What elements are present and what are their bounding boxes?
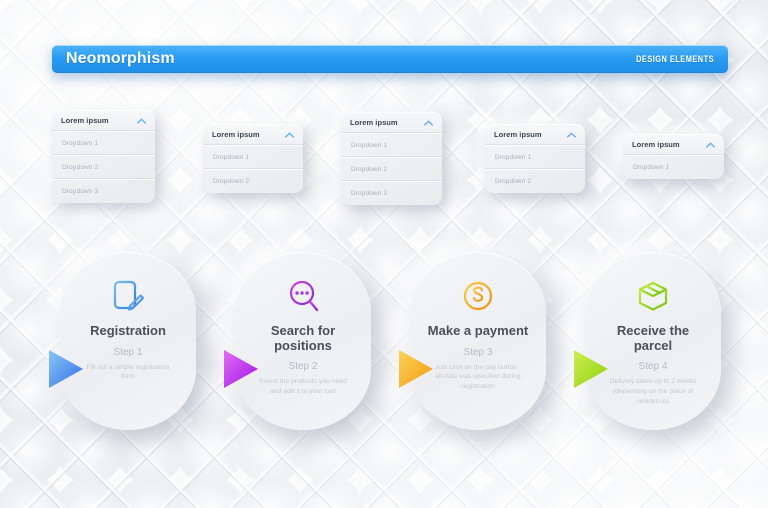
dropdown-item[interactable]: Dropdown 1 bbox=[623, 155, 724, 179]
dropdown-label-1: Lorem ipsum bbox=[61, 116, 109, 125]
dropdown-header-3[interactable]: Lorem ipsum bbox=[341, 112, 442, 133]
page-title: Neomorphism bbox=[66, 50, 175, 68]
document-edit-icon bbox=[111, 276, 145, 318]
play-triangle-icon[interactable] bbox=[46, 348, 86, 390]
dropdown-label-2: Lorem ipsum bbox=[212, 130, 260, 139]
dropdown-card-5[interactable]: Lorem ipsum Dropdown 1 bbox=[623, 134, 724, 179]
dropdown-card-4[interactable]: Lorem ipsum Dropdown 1 Dropdown 2 bbox=[485, 124, 585, 193]
step-card-registration[interactable]: Registration Step 1 Fill out a simple re… bbox=[60, 252, 196, 430]
step-description: Fill out a simple registration form bbox=[81, 363, 175, 383]
neomorphism-showcase: Neomorphism DESIGN ELEMENTS Lorem ipsum … bbox=[0, 0, 768, 508]
dropdown-item[interactable]: Dropdown 3 bbox=[52, 179, 155, 203]
dropdown-item[interactable]: Dropdown 1 bbox=[485, 145, 585, 169]
dropdown-label-4: Lorem ipsum bbox=[494, 130, 542, 139]
chevron-up-icon[interactable] bbox=[137, 118, 146, 124]
step-description: Delivery takes up to 2 weeks (depending … bbox=[606, 377, 700, 407]
dropdown-card-1[interactable]: Lorem ipsum Dropdown 1 Dropdown 2 Dropdo… bbox=[52, 110, 155, 203]
parcel-box-icon bbox=[635, 276, 671, 318]
step-title: Search for positions bbox=[249, 324, 357, 353]
chevron-up-icon[interactable] bbox=[424, 120, 433, 126]
dropdown-card-3[interactable]: Lorem ipsum Dropdown 1 Dropdown 2 Dropdo… bbox=[341, 112, 442, 205]
dropdown-item[interactable]: Dropdown 3 bbox=[341, 181, 442, 205]
step-card-payment[interactable]: Make a payment Step 3 Just click on the … bbox=[410, 252, 546, 430]
step-title: Make a payment bbox=[428, 324, 528, 339]
play-triangle-icon[interactable] bbox=[396, 348, 436, 390]
step-title: Registration bbox=[90, 324, 166, 339]
search-bubble-icon bbox=[286, 276, 320, 318]
dropdown-item[interactable]: Dropdown 1 bbox=[52, 131, 155, 155]
step-number-label: Step 3 bbox=[464, 347, 493, 358]
chevron-up-icon[interactable] bbox=[706, 142, 715, 148]
step-number-label: Step 1 bbox=[114, 347, 143, 358]
chevron-up-icon[interactable] bbox=[567, 132, 576, 138]
dropdown-item[interactable]: Dropdown 2 bbox=[203, 169, 303, 193]
banner-subtitle: DESIGN ELEMENTS bbox=[636, 54, 714, 64]
header-banner: Neomorphism DESIGN ELEMENTS bbox=[52, 45, 728, 73]
dollar-coin-icon bbox=[461, 276, 495, 318]
dropdown-item[interactable]: Dropdown 2 bbox=[485, 169, 585, 193]
dropdown-item[interactable]: Dropdown 2 bbox=[341, 157, 442, 181]
step-card-search[interactable]: Search for positions Step 2 Select the p… bbox=[235, 252, 371, 430]
dropdown-header-2[interactable]: Lorem ipsum bbox=[203, 124, 303, 145]
step-title: Receive the parcel bbox=[599, 324, 707, 353]
play-triangle-icon[interactable] bbox=[571, 348, 611, 390]
dropdown-header-4[interactable]: Lorem ipsum bbox=[485, 124, 585, 145]
dropdown-label-3: Lorem ipsum bbox=[350, 118, 398, 127]
play-triangle-icon[interactable] bbox=[221, 348, 261, 390]
step-number-label: Step 2 bbox=[289, 361, 318, 372]
step-number-label: Step 4 bbox=[639, 361, 668, 372]
step-description: Just click on the pay button - all data … bbox=[431, 363, 525, 393]
dropdown-item[interactable]: Dropdown 2 bbox=[52, 155, 155, 179]
dropdown-header-1[interactable]: Lorem ipsum bbox=[52, 110, 155, 131]
dropdown-header-5[interactable]: Lorem ipsum bbox=[623, 134, 724, 155]
chevron-up-icon[interactable] bbox=[285, 132, 294, 138]
step-card-parcel[interactable]: Receive the parcel Step 4 Delivery takes… bbox=[585, 252, 721, 430]
dropdown-label-5: Lorem ipsum bbox=[632, 140, 680, 149]
dropdown-card-2[interactable]: Lorem ipsum Dropdown 1 Dropdown 2 bbox=[203, 124, 303, 193]
dropdown-item[interactable]: Dropdown 1 bbox=[341, 133, 442, 157]
dropdown-item[interactable]: Dropdown 1 bbox=[203, 145, 303, 169]
step-description: Select the products you need and add it … bbox=[256, 377, 350, 397]
